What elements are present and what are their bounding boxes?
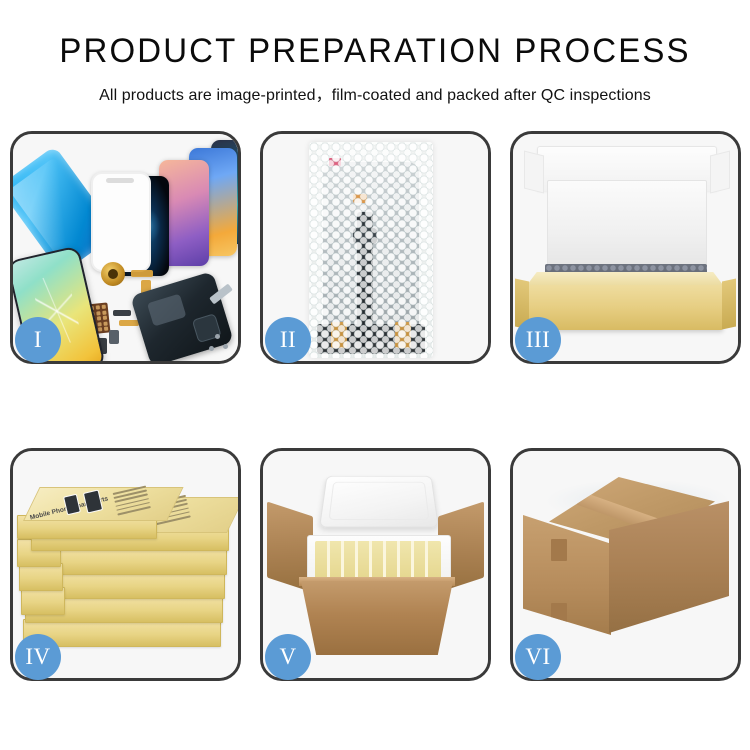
flex-cable-part-3 xyxy=(119,320,139,326)
front-glass-panel xyxy=(91,172,151,272)
carton-body xyxy=(301,581,453,655)
step-badge-3: III xyxy=(515,317,561,363)
bubble-texture xyxy=(309,142,433,358)
stacked-box-edge-left-3 xyxy=(21,587,65,615)
screw-part-2 xyxy=(223,344,228,349)
process-grid: I II III xyxy=(10,131,740,681)
process-step-1[interactable]: I xyxy=(10,131,241,364)
process-step-5[interactable]: V xyxy=(260,448,491,681)
kraft-inner-box-side xyxy=(722,279,736,330)
speaker-coil-part xyxy=(101,262,125,286)
carton-tab-upper xyxy=(551,539,567,561)
page-subtitle: All products are image-printed，film-coat… xyxy=(0,81,750,105)
step-badge-5: V xyxy=(265,634,311,680)
carton-tab-lower xyxy=(551,603,567,625)
page-title: PRODUCT PREPARATION PROCESS xyxy=(11,34,739,68)
step-badge-6: VI xyxy=(515,634,561,680)
kraft-inner-box xyxy=(527,284,723,330)
connector-part-3 xyxy=(113,310,131,316)
stacked-box-edge-left-2 xyxy=(19,563,63,591)
process-step-3[interactable]: III xyxy=(510,131,741,364)
page-header: PRODUCT PREPARATION PROCESS All products… xyxy=(0,0,750,105)
step-badge-1: I xyxy=(15,317,61,363)
battery-connector-part xyxy=(109,330,119,344)
screw-part-3 xyxy=(209,346,214,351)
white-foam-sheet xyxy=(547,180,707,268)
sealed-carton xyxy=(523,477,729,649)
process-step-6[interactable]: VI xyxy=(510,448,741,681)
step-badge-2: II xyxy=(265,317,311,363)
step-badge-4: IV xyxy=(15,634,61,680)
flex-cable-part-1 xyxy=(131,270,153,277)
screw-part-1 xyxy=(215,334,220,339)
process-step-4[interactable]: Mobile Phone Spare Parts Mobile Phone Sp… xyxy=(10,448,241,681)
bubble-wrap-bag xyxy=(309,142,433,358)
process-step-2[interactable]: II xyxy=(260,131,491,364)
foam-box-lid xyxy=(319,476,439,528)
